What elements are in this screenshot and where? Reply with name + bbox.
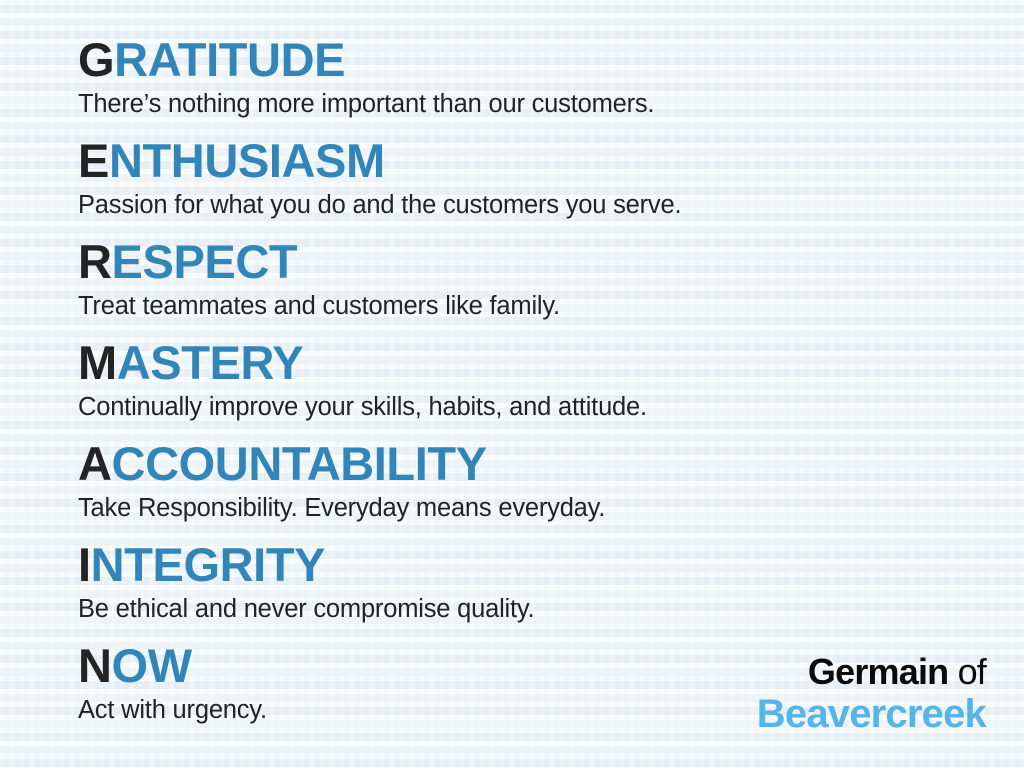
value-lead-letter: A (78, 437, 112, 490)
value-description-mastery: Continually improve your skills, habits,… (78, 390, 1024, 424)
value-lead-letter: E (78, 134, 109, 187)
value-lead-letter: R (78, 235, 112, 288)
logo-brand-name: Germain (808, 651, 948, 692)
value-rest-letters: CCOUNTABILITY (112, 437, 487, 490)
logo-line-brand: Germain of (757, 652, 986, 692)
value-lead-letter: G (78, 33, 114, 86)
value-lead-letter: I (78, 538, 91, 591)
value-lead-letter: N (78, 639, 112, 692)
value-block-respect: RESPECT Treat teammates and customers li… (78, 236, 1024, 323)
value-description-enthusiasm: Passion for what you do and the customer… (78, 188, 1024, 222)
dealership-logo: Germain of Beavercreek (757, 652, 986, 736)
value-heading-integrity: INTEGRITY (78, 539, 1024, 591)
value-rest-letters: OW (112, 639, 192, 692)
value-rest-letters: RATITUDE (114, 33, 345, 86)
value-rest-letters: ESPECT (112, 235, 298, 288)
value-block-integrity: INTEGRITY Be ethical and never compromis… (78, 539, 1024, 626)
value-block-mastery: MASTERY Continually improve your skills,… (78, 337, 1024, 424)
value-description-integrity: Be ethical and never compromise quality. (78, 592, 1024, 626)
value-description-respect: Treat teammates and customers like famil… (78, 289, 1024, 323)
value-rest-letters: NTHUSIASM (109, 134, 385, 187)
value-heading-enthusiasm: ENTHUSIASM (78, 135, 1024, 187)
value-block-accountability: ACCOUNTABILITY Take Responsibility. Ever… (78, 438, 1024, 525)
value-block-gratitude: GRATITUDE There’s nothing more important… (78, 34, 1024, 121)
value-description-gratitude: There’s nothing more important than our … (78, 87, 1024, 121)
value-lead-letter: M (78, 336, 117, 389)
value-heading-respect: RESPECT (78, 236, 1024, 288)
logo-line-location: Beavercreek (757, 692, 986, 736)
logo-connector-word: of (948, 651, 986, 692)
value-description-accountability: Take Responsibility. Everyday means ever… (78, 491, 1024, 525)
value-rest-letters: ASTERY (117, 336, 304, 389)
value-heading-mastery: MASTERY (78, 337, 1024, 389)
value-rest-letters: NTEGRITY (91, 538, 325, 591)
value-block-enthusiasm: ENTHUSIASM Passion for what you do and t… (78, 135, 1024, 222)
value-heading-gratitude: GRATITUDE (78, 34, 1024, 86)
value-heading-accountability: ACCOUNTABILITY (78, 438, 1024, 490)
